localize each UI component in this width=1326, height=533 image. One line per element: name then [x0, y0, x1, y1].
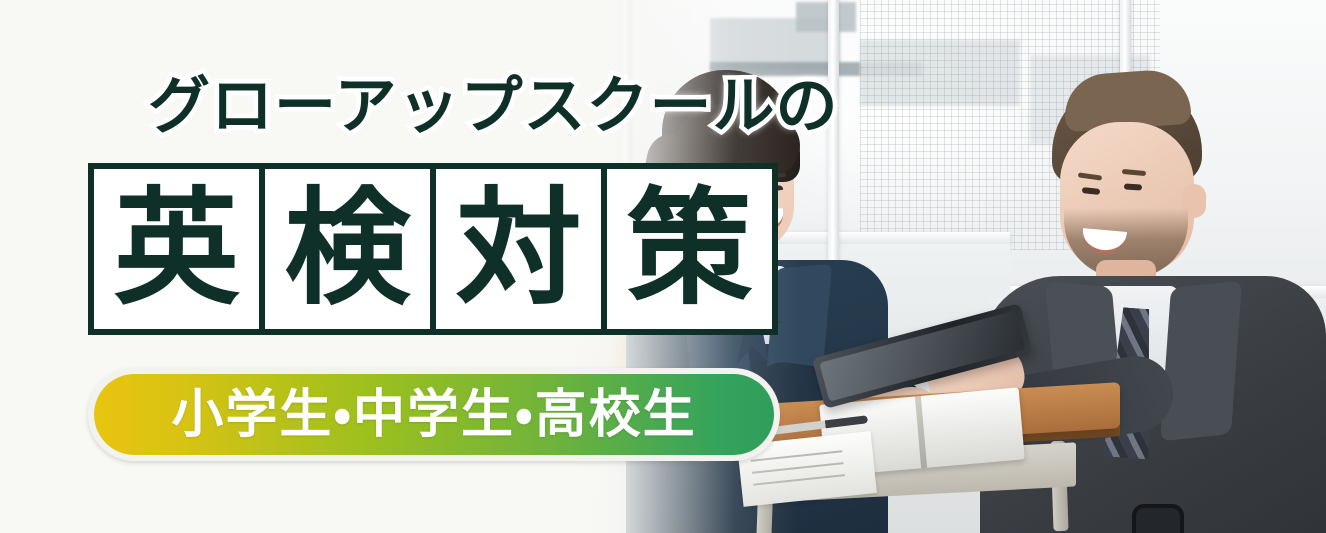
paper-line	[753, 474, 845, 486]
title-char-cell: 対	[436, 169, 601, 329]
target-audience-badge: 小学生・中学生・高校生	[88, 368, 780, 461]
book-spine	[915, 396, 927, 468]
title-char-cell: 策	[607, 169, 772, 329]
banner-subtitle: グローアップスクールの	[148, 76, 839, 138]
title-char-cell: 検	[265, 169, 430, 329]
background-building	[796, 2, 856, 32]
banner-title-frame: 英 検 対 策	[88, 163, 778, 335]
teacher-eye	[1124, 183, 1142, 190]
paper-line	[751, 450, 843, 462]
title-char-cell: 英	[94, 169, 259, 329]
teacher-wristwatch	[1132, 504, 1184, 533]
teacher-lapel	[1160, 281, 1242, 441]
target-audience-label: 小学生・中学生・高校生	[171, 389, 696, 441]
eiken-course-banner: グローアップスクールの 英 検 対 策 小学生・中学生・高校生	[0, 0, 1326, 533]
paper-line	[752, 462, 844, 474]
